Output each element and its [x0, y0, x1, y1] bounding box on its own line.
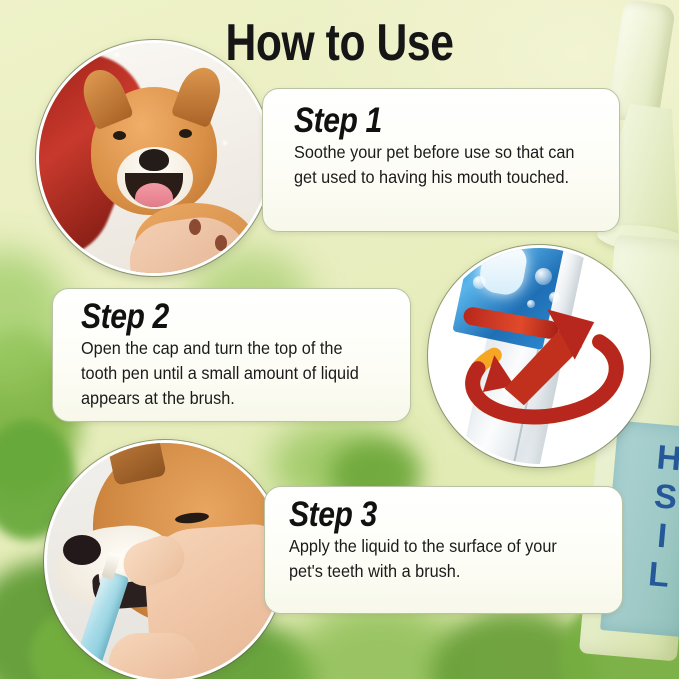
step-2-label: Step 2 — [81, 298, 360, 336]
dog-nose — [63, 535, 101, 565]
dog-eye-right — [179, 129, 192, 138]
step-2-content: Step 2 Open the cap and turn the top of … — [81, 298, 405, 411]
dog-eye-left — [113, 131, 126, 140]
step-1-label: Step 1 — [294, 102, 569, 140]
step-1-text: Soothe your pet before use so that can g… — [294, 140, 592, 190]
step-3-card: Step 3 Apply the liquid to the surface o… — [264, 486, 623, 614]
fingernail — [189, 219, 201, 235]
owner-lower-fingers — [109, 633, 199, 679]
infographic-canvas: HSIL How to Use Step 1 Soothe your pet b… — [0, 0, 679, 679]
step-3-text: Apply the liquid to the surface of your … — [289, 534, 590, 584]
leaf-decoration — [430, 610, 600, 679]
applying-liquid-to-teeth-photo — [44, 440, 286, 679]
rotate-arrow-icon — [446, 282, 634, 446]
step-2-card: Step 2 Open the cap and turn the top of … — [52, 288, 411, 422]
dog-tongue — [135, 183, 173, 207]
step-1-card: Step 1 Soothe your pet before use so tha… — [262, 88, 620, 232]
step-3-content: Step 3 Apply the liquid to the surface o… — [289, 496, 613, 584]
step-2-text: Open the cap and turn the top of the too… — [81, 336, 382, 411]
dog-nose — [139, 149, 169, 171]
step-1-content: Step 1 Soothe your pet before use so tha… — [294, 102, 614, 190]
bubble-decoration — [535, 268, 552, 285]
tooth-pen-rotate-photo — [428, 245, 650, 467]
fingernail — [215, 235, 227, 251]
dog-held-by-owner-photo — [36, 40, 272, 276]
bubble-decoration — [473, 276, 486, 289]
step-3-label: Step 3 — [289, 496, 568, 534]
